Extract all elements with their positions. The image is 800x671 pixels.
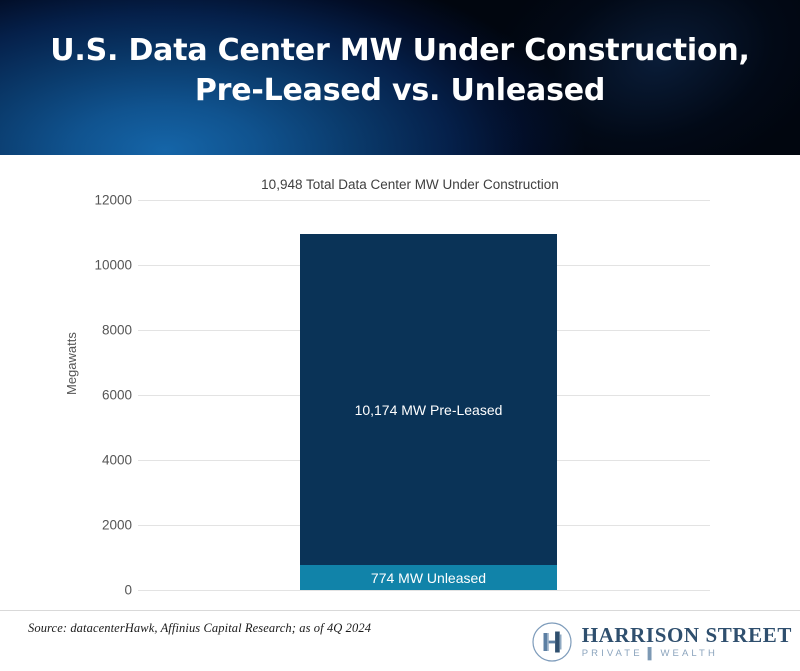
title-banner: U.S. Data Center MW Under Construction, … [0, 0, 800, 155]
y-tick-label: 0 [62, 583, 132, 598]
gridline [138, 590, 710, 591]
harrison-street-logo: HARRISON STREET PRIVATE ▌ WEALTH [531, 619, 792, 665]
logo-tagline-right: WEALTH [660, 649, 717, 659]
y-tick-label: 4000 [62, 453, 132, 468]
bar-segment-unleased[interactable]: 774 MW Unleased [300, 565, 557, 590]
y-axis-ticks: 12000 10000 8000 6000 4000 2000 0 [52, 200, 132, 590]
footer: Source: datacenterHawk, Affinius Capital… [0, 610, 800, 671]
y-tick-label: 2000 [62, 518, 132, 533]
stacked-bar[interactable]: 10,174 MW Pre-Leased 774 MW Unleased [300, 234, 557, 590]
chart-title: 10,948 Total Data Center MW Under Constr… [110, 177, 710, 192]
logo-tagline: PRIVATE ▌ WEALTH [582, 649, 792, 660]
bar-segment-pre-leased[interactable]: 10,174 MW Pre-Leased [300, 234, 557, 565]
logo-tagline-separator-icon: ▌ [648, 649, 656, 660]
source-note: Source: datacenterHawk, Affinius Capital… [28, 621, 371, 636]
page-title: U.S. Data Center MW Under Construction, … [0, 31, 800, 110]
gridline [138, 200, 710, 201]
bar-label-pre-leased: 10,174 MW Pre-Leased [300, 402, 557, 418]
plot-area: 10,174 MW Pre-Leased 774 MW Unleased [138, 200, 710, 590]
bar-label-unleased: 774 MW Unleased [371, 570, 486, 586]
logo-name: HARRISON STREET [582, 625, 792, 646]
y-tick-label: 12000 [62, 193, 132, 208]
logo-tagline-left: PRIVATE [582, 649, 643, 659]
y-tick-label: 6000 [62, 388, 132, 403]
y-tick-label: 10000 [62, 258, 132, 273]
logo-wordmark: HARRISON STREET PRIVATE ▌ WEALTH [582, 625, 792, 660]
building-circle-icon [531, 621, 573, 663]
y-tick-label: 8000 [62, 323, 132, 338]
chart-container: 10,948 Total Data Center MW Under Constr… [0, 155, 800, 610]
